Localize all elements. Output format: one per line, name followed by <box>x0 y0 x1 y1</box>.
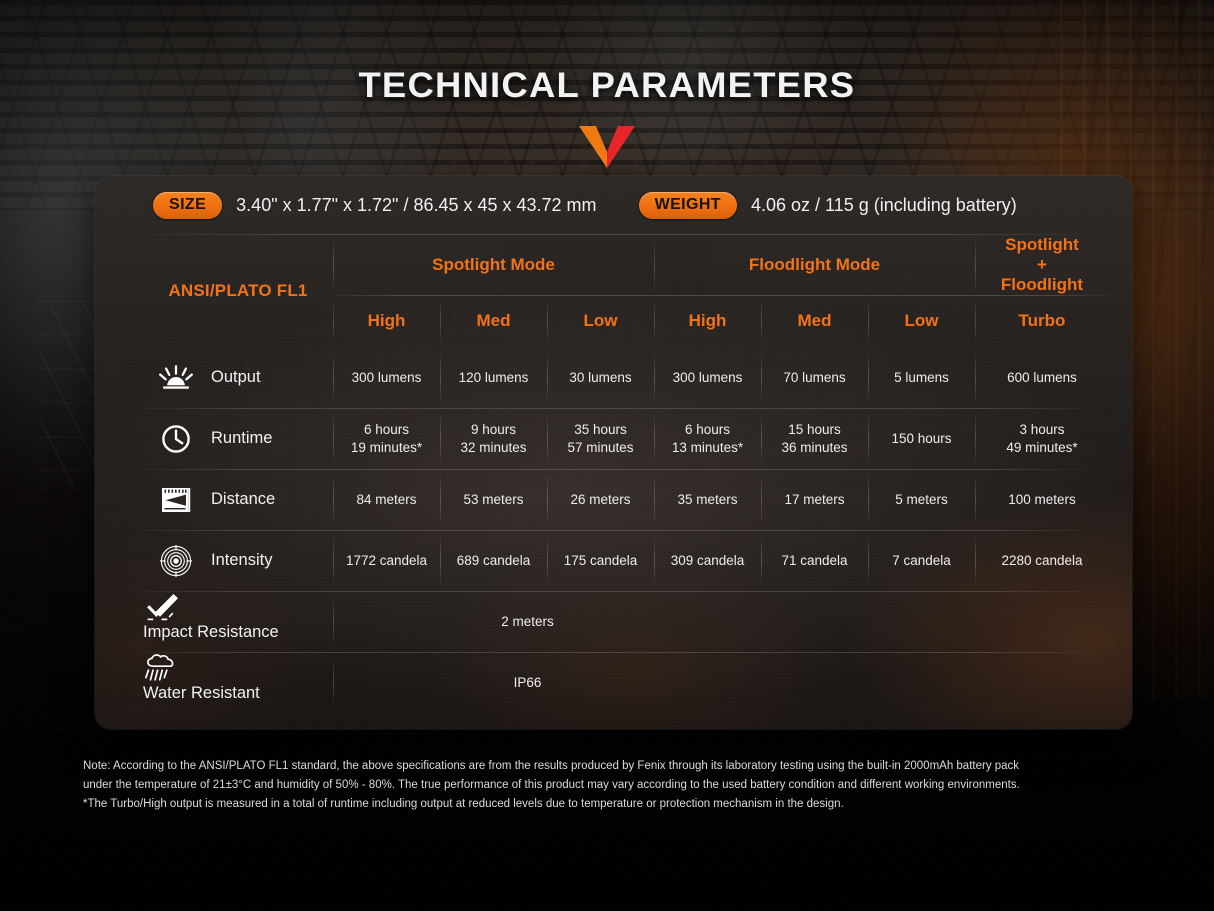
cell-output-turbo: 600 lumens <box>975 347 1109 408</box>
cell-runtime-floodlight-low: 150 hours <box>868 408 975 469</box>
cell-distance-spotlight-high: 84 meters <box>333 469 440 530</box>
cell-distance-floodlight-med: 17 meters <box>761 469 868 530</box>
group-spotlight-plus-floodlight: Spotlight + Floodlight <box>975 235 1109 295</box>
group-spotlight-mode: Spotlight Mode <box>333 235 654 295</box>
cell-text: 150 hours <box>891 430 951 447</box>
spec-card: SIZE 3.40" x 1.77" x 1.72" / 86.45 x 45 … <box>95 176 1132 729</box>
table-row-output: Output 300 lumens 120 lumens 30 lumens 3… <box>143 347 1084 408</box>
cell-intensity-floodlight-med: 71 candela <box>761 530 868 591</box>
footnote-line-2: under the temperature of 21±3°C and humi… <box>83 776 1153 795</box>
cell-output-spotlight-med: 120 lumens <box>440 347 547 408</box>
cell-runtime-spotlight-med: 9 hours 32 minutes <box>440 408 547 469</box>
cell-output-floodlight-high: 300 lumens <box>654 347 761 408</box>
row-label-runtime: Runtime <box>143 408 333 469</box>
row-label-output: Output <box>143 347 333 408</box>
cell-text: 9 hours 32 minutes <box>460 421 526 456</box>
beam-distance-glyph <box>160 486 192 514</box>
level-floodlight-low: Low <box>868 295 975 347</box>
footnote-line-3: *The Turbo/High output is measured in a … <box>83 795 1153 814</box>
table-row-impact-resistance: Impact Resistance 2 meters <box>143 591 1084 652</box>
rain-cloud-icon <box>143 652 181 684</box>
footnote-line-1: Note: According to the ANSI/PLATO FL1 st… <box>83 757 1153 776</box>
mode-columns: Spotlight Mode Floodlight Mode Spotlight… <box>333 235 1109 347</box>
cell-intensity-floodlight-high: 309 candela <box>654 530 761 591</box>
table-row-runtime: Runtime 6 hours 19 minutes* 9 hours 32 m… <box>143 408 1084 469</box>
level-spotlight-low: Low <box>547 295 654 347</box>
cell-text: 15 hours 36 minutes <box>781 421 847 456</box>
clock-icon <box>157 423 195 455</box>
impact-hammer-glyph <box>145 592 179 622</box>
row-label-text-output: Output <box>211 368 261 387</box>
cell-distance-floodlight-low: 5 meters <box>868 469 975 530</box>
rain-cloud-glyph <box>145 653 179 683</box>
cell-intensity-spotlight-high: 1772 candela <box>333 530 440 591</box>
chevron-down-icon <box>0 126 1214 168</box>
level-spotlight-med: Med <box>440 295 547 347</box>
table-corner-label: ANSI/PLATO FL1 <box>143 235 333 347</box>
row-label-water-resistant: Water Resistant <box>143 652 333 713</box>
impact-hammer-icon <box>143 591 181 623</box>
cell-distance-spotlight-med: 53 meters <box>440 469 547 530</box>
cell-runtime-floodlight-high: 6 hours 13 minutes* <box>654 408 761 469</box>
cell-runtime-spotlight-low: 35 hours 57 minutes <box>547 408 654 469</box>
weight-group: WEIGHT 4.06 oz / 115 g (including batter… <box>639 192 1017 219</box>
cell-distance-turbo: 100 meters <box>975 469 1109 530</box>
combo-line-1: Spotlight <box>1001 235 1083 255</box>
cell-impact-resistance-value: 2 meters <box>333 591 1084 652</box>
row-label-text-runtime: Runtime <box>211 429 272 448</box>
cell-intensity-spotlight-low: 175 candela <box>547 530 654 591</box>
target-intensity-glyph <box>160 545 192 577</box>
combo-line-3: Floodlight <box>1001 275 1083 295</box>
cell-text: 35 hours 57 minutes <box>567 421 633 456</box>
row-label-text-impact-resistance: Impact Resistance <box>143 623 279 641</box>
cell-output-spotlight-low: 30 lumens <box>547 347 654 408</box>
group-floodlight-mode: Floodlight Mode <box>654 235 975 295</box>
table-header: ANSI/PLATO FL1 Spotlight Mode Floodlight… <box>143 235 1084 347</box>
row-label-text-distance: Distance <box>211 490 275 509</box>
size-pill: SIZE <box>153 192 222 219</box>
cell-distance-floodlight-high: 35 meters <box>654 469 761 530</box>
level-floodlight-med: Med <box>761 295 868 347</box>
level-turbo: Turbo <box>975 295 1109 347</box>
cell-distance-spotlight-low: 26 meters <box>547 469 654 530</box>
level-floodlight-high: High <box>654 295 761 347</box>
level-spotlight-high: High <box>333 295 440 347</box>
row-label-intensity: Intensity <box>143 530 333 591</box>
chevron-down-glyph <box>579 126 635 168</box>
cell-output-floodlight-low: 5 lumens <box>868 347 975 408</box>
sunburst-icon <box>157 362 195 394</box>
cell-runtime-turbo: 3 hours 49 minutes* <box>975 408 1109 469</box>
row-label-impact-resistance: Impact Resistance <box>143 591 333 652</box>
cell-text: 6 hours 19 minutes* <box>351 421 422 456</box>
cell-output-spotlight-high: 300 lumens <box>333 347 440 408</box>
size-weight-bar: SIZE 3.40" x 1.77" x 1.72" / 86.45 x 45 … <box>95 176 1132 234</box>
page-title: TECHNICAL PARAMETERS <box>359 66 856 106</box>
cell-text: 6 hours 13 minutes* <box>672 421 743 456</box>
weight-pill: WEIGHT <box>639 192 737 219</box>
target-intensity-icon <box>157 545 195 577</box>
cell-output-floodlight-med: 70 lumens <box>761 347 868 408</box>
cell-intensity-floodlight-low: 7 candela <box>868 530 975 591</box>
row-label-text-water-resistant: Water Resistant <box>143 684 260 702</box>
weight-value: 4.06 oz / 115 g (including battery) <box>751 195 1017 216</box>
cell-intensity-turbo: 2280 candela <box>975 530 1109 591</box>
cell-runtime-floodlight-med: 15 hours 36 minutes <box>761 408 868 469</box>
table-row-intensity: Intensity 1772 candela 689 candela 175 c… <box>143 530 1084 591</box>
mode-level-row: High Med Low High Med Low Turbo <box>333 295 1109 347</box>
combo-line-2: + <box>1001 255 1083 275</box>
cell-intensity-spotlight-med: 689 candela <box>440 530 547 591</box>
table-row-distance: Distance 84 meters 53 meters 26 meters 3… <box>143 469 1084 530</box>
page-title-wrapper: TECHNICAL PARAMETERS <box>0 66 1214 106</box>
cell-text: 3 hours 49 minutes* <box>1006 421 1077 456</box>
row-label-text-intensity: Intensity <box>211 551 272 570</box>
cell-water-resistant-value: IP66 <box>333 652 1084 713</box>
specifications-table: ANSI/PLATO FL1 Spotlight Mode Floodlight… <box>95 235 1132 713</box>
cell-runtime-spotlight-high: 6 hours 19 minutes* <box>333 408 440 469</box>
size-value: 3.40" x 1.77" x 1.72" / 86.45 x 45 x 43.… <box>236 195 596 216</box>
mode-group-row: Spotlight Mode Floodlight Mode Spotlight… <box>333 235 1109 295</box>
table-row-water-resistant: Water Resistant IP66 <box>143 652 1084 713</box>
clock-glyph <box>161 424 191 454</box>
footnote: Note: According to the ANSI/PLATO FL1 st… <box>83 757 1153 814</box>
sunburst-glyph <box>159 365 193 391</box>
row-label-distance: Distance <box>143 469 333 530</box>
beam-distance-icon <box>157 484 195 516</box>
